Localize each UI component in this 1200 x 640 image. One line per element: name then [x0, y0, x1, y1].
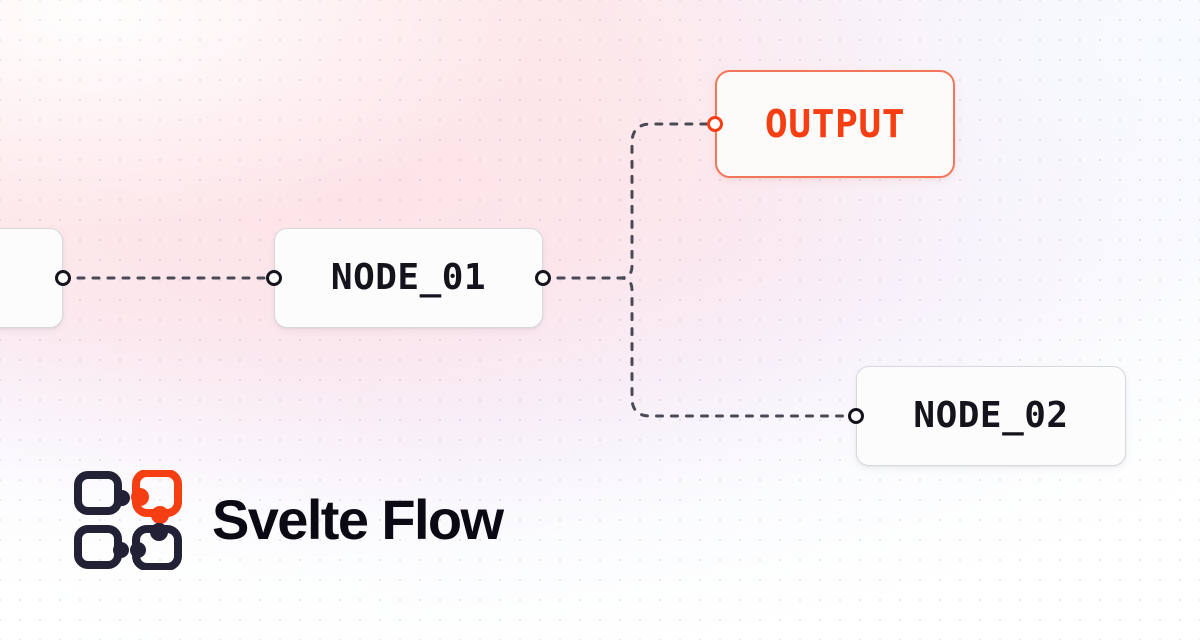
node-partial[interactable]	[0, 228, 63, 328]
svelte-flow-logo-icon	[74, 470, 182, 570]
node-node-02[interactable]: NODE_02	[856, 366, 1126, 466]
handle-node-01-target[interactable]	[266, 270, 282, 286]
flow-canvas[interactable]: NODE_01 OUTPUT NODE_02	[0, 0, 1200, 640]
handle-output-target[interactable]	[707, 116, 723, 132]
handle-node-02-target[interactable]	[848, 408, 864, 424]
handle-node-01-source[interactable]	[535, 270, 551, 286]
node-node-01-label: NODE_01	[331, 260, 486, 296]
edge-node01-to-node02[interactable]	[543, 278, 856, 416]
node-node-01[interactable]: NODE_01	[274, 228, 543, 328]
edge-node01-to-output[interactable]	[543, 124, 714, 278]
node-output-label: OUTPUT	[765, 105, 905, 143]
brand: Svelte Flow	[74, 470, 502, 570]
node-output[interactable]: OUTPUT	[715, 70, 955, 178]
brand-name: Svelte Flow	[212, 492, 502, 548]
handle-partial-source[interactable]	[55, 270, 71, 286]
node-node-02-label: NODE_02	[913, 398, 1068, 434]
